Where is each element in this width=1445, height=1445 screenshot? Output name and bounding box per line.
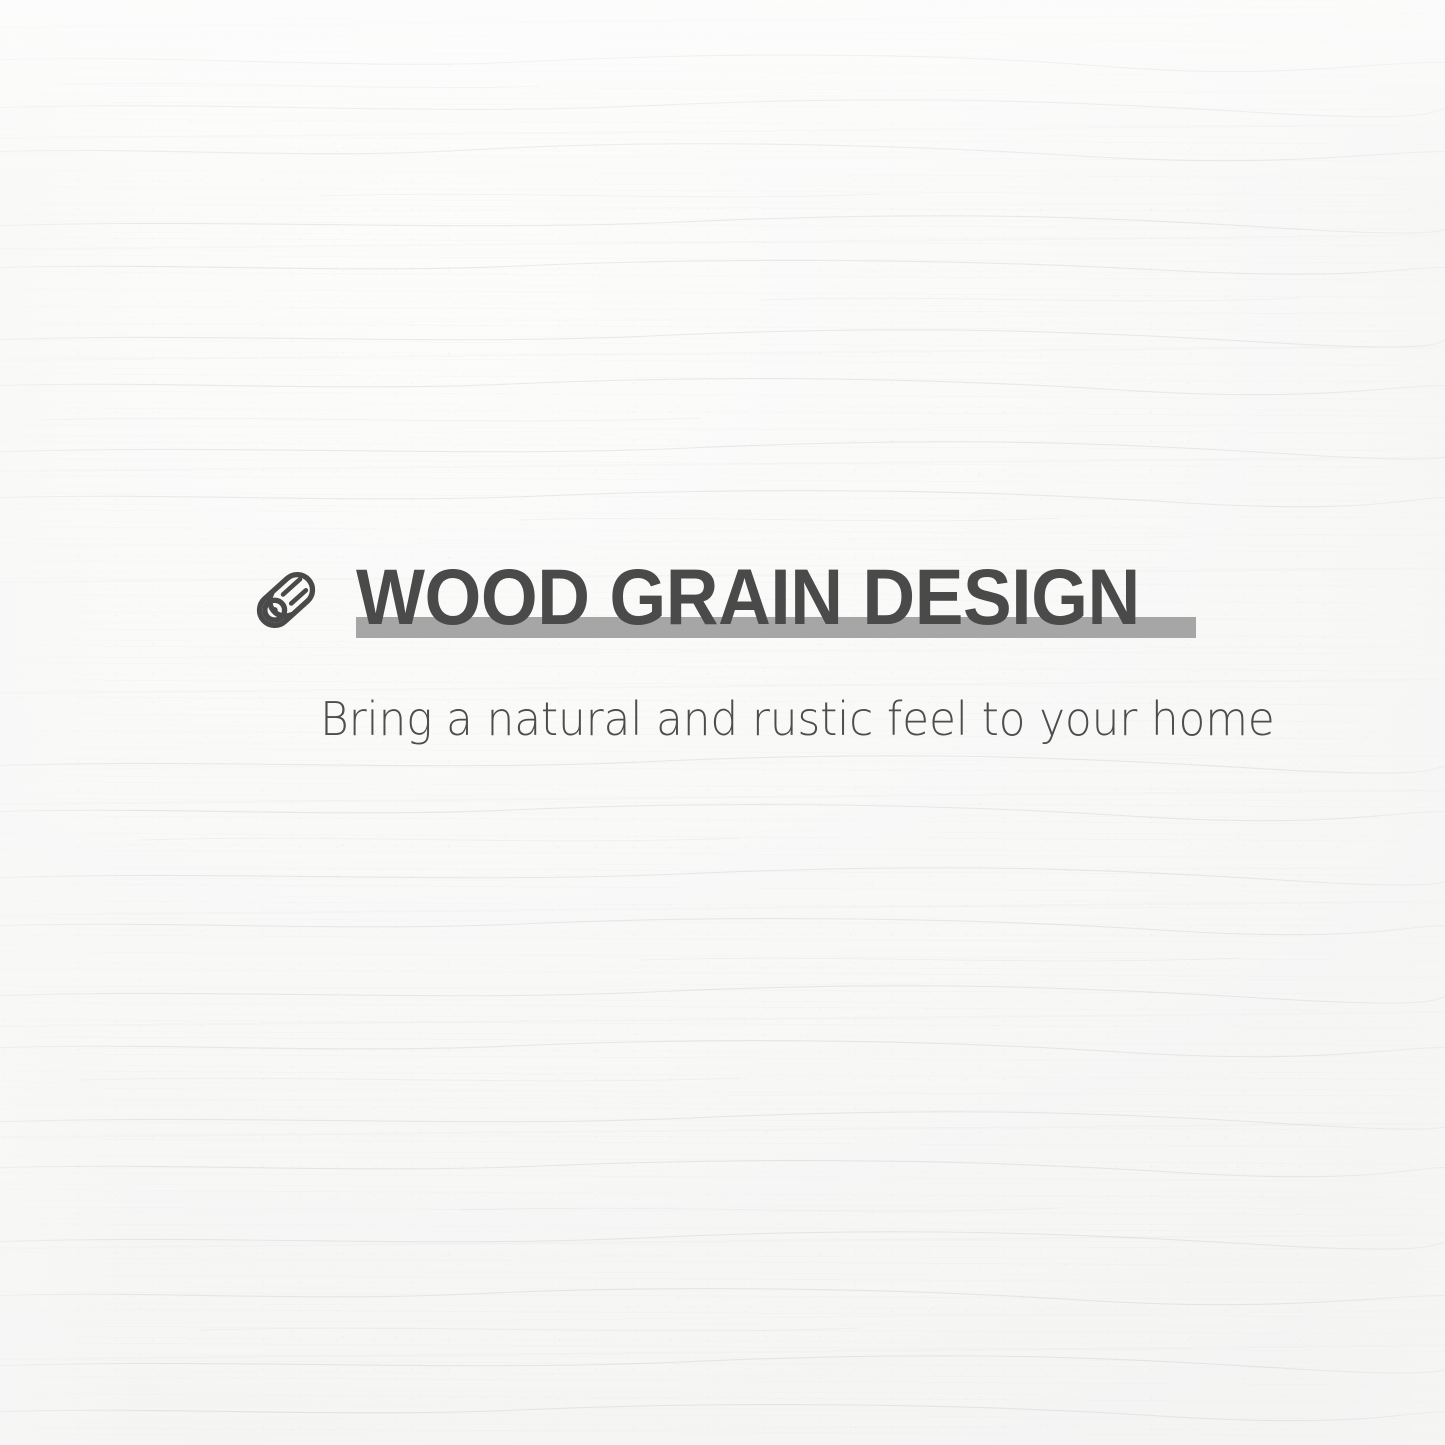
wood-log-icon [248,562,324,638]
subtitle: Bring a natural and rustic feel to your … [320,690,1275,748]
headline-row: WOOD GRAIN DESIGN [248,556,1208,648]
feature-banner: WOOD GRAIN DESIGN Bring a natural and ru… [0,0,1445,1445]
banner-canvas: WOOD GRAIN DESIGN Bring a natural and ru… [0,0,1445,1445]
page-title: WOOD GRAIN DESIGN [356,556,1140,638]
